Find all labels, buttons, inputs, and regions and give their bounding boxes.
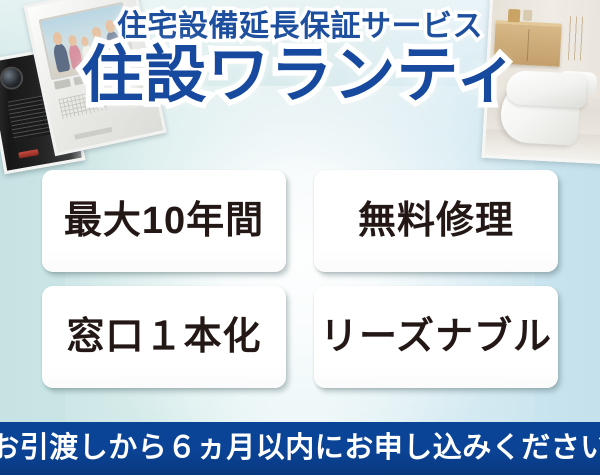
feature-card-reasonable: リーズナブル [314, 286, 558, 388]
feature-card-label: 無料修理 [358, 202, 514, 240]
banner-subtitle: 住宅設備延長保証サービス [0, 12, 600, 42]
feature-card-label: リーズナブル [320, 318, 552, 356]
feature-card-free-repair: 無料修理 [314, 170, 558, 272]
footer-bar: お引渡しから６ヵ月以内にお申し込みください [0, 422, 600, 475]
feature-card-label: 窓口１本化 [66, 318, 261, 356]
feature-card-grid: 最大10年間 無料修理 窓口１本化 リーズナブル [42, 170, 558, 388]
banner-title: 住設ワランティ [0, 44, 600, 108]
feature-card-max-years: 最大10年間 [42, 170, 286, 272]
headline-block: 住宅設備延長保証サービス 住設ワランティ [0, 12, 600, 108]
feature-card-label: 最大10年間 [64, 202, 264, 240]
footer-message: お引渡しから６ヵ月以内にお申し込みください [0, 434, 600, 463]
feature-card-single-contact: 窓口１本化 [42, 286, 286, 388]
promo-banner: 住宅設備延長保証サービス 住設ワランティ 最大10年間 無料修理 窓口１本化 リ… [0, 0, 600, 475]
